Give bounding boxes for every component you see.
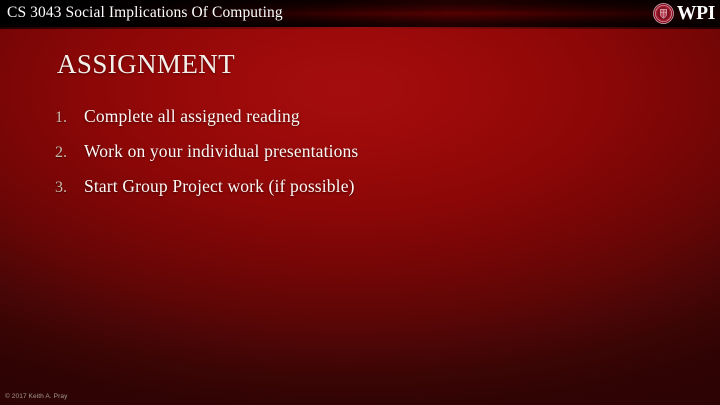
presentation-slide: CS 3043 Social Implications Of Computing… (0, 0, 720, 405)
list-item: 1. Complete all assigned reading (55, 106, 675, 141)
page-title: ASSIGNMENT (57, 47, 235, 81)
list-item-label: Complete all assigned reading (84, 106, 300, 127)
header-underline (0, 27, 720, 29)
wpi-wordmark: WPI (677, 3, 715, 24)
list-item-number: 1. (55, 109, 84, 127)
wpi-seal-icon (653, 3, 674, 24)
list-item-label: Start Group Project work (if possible) (84, 176, 355, 197)
list-item-label: Work on your individual presentations (84, 141, 358, 162)
course-title: CS 3043 Social Implications Of Computing (7, 3, 283, 23)
copyright-notice: © 2017 Keith A. Pray (5, 392, 67, 401)
wpi-logo: WPI (653, 1, 715, 26)
list-item-number: 3. (55, 179, 84, 197)
list-item: 2. Work on your individual presentations (55, 141, 675, 176)
assignment-list: 1. Complete all assigned reading 2. Work… (55, 106, 675, 211)
list-item-number: 2. (55, 144, 84, 162)
list-item: 3. Start Group Project work (if possible… (55, 176, 675, 211)
